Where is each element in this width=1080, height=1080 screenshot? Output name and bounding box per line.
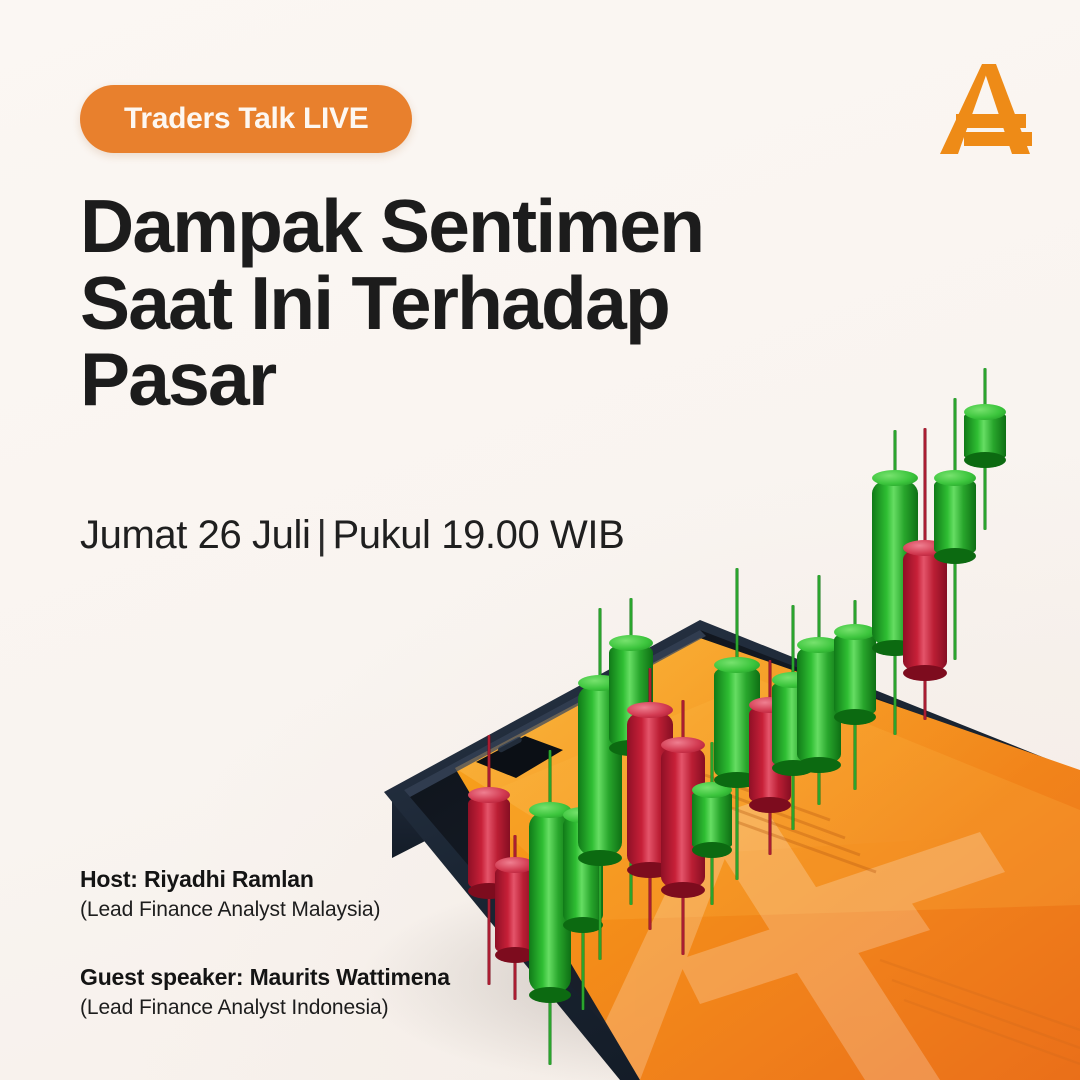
candle-9-bullish — [692, 790, 732, 850]
candle-top-cap — [468, 787, 510, 803]
host-name: Host: Riyadhi Ramlan — [80, 866, 450, 893]
candle-bottom-cap — [661, 882, 705, 898]
candle-bottom-cap — [563, 917, 603, 933]
candle-bottom-cap — [749, 797, 791, 813]
candle-top-cap — [609, 635, 653, 651]
candle-top-cap — [714, 657, 760, 673]
guest-name: Guest speaker: Maurits Wattimena — [80, 964, 450, 991]
candle-body — [834, 632, 876, 717]
candle-top-cap — [661, 737, 705, 753]
candle-bottom-cap — [529, 987, 571, 1003]
candle-14-bullish — [834, 632, 876, 717]
candle-top-cap — [627, 702, 673, 718]
candle-bottom-cap — [797, 757, 841, 773]
candle-bottom-cap — [834, 709, 876, 725]
candle-body — [692, 790, 732, 850]
candle-bottom-cap — [578, 850, 622, 866]
candle-top-cap — [872, 470, 918, 486]
candle-body — [934, 478, 976, 556]
candle-top-cap — [834, 624, 876, 640]
candle-top-cap — [934, 470, 976, 486]
candle-16-bearish — [903, 548, 947, 673]
candle-body — [903, 548, 947, 673]
candle-17-bullish — [934, 478, 976, 556]
credits-block: Host: Riyadhi Ramlan (Lead Finance Analy… — [80, 866, 450, 1020]
candle-bottom-cap — [692, 842, 732, 858]
credits-spacer — [80, 922, 450, 964]
candle-18-bullish — [964, 412, 1006, 460]
candle-bottom-cap — [903, 665, 947, 681]
host-role: (Lead Finance Analyst Malaysia) — [80, 898, 450, 922]
candle-top-cap — [964, 404, 1006, 420]
poster-canvas: Traders Talk LIVE Dampak Sentimen Saat I… — [0, 0, 1080, 1080]
candle-bottom-cap — [964, 452, 1006, 468]
candle-bottom-cap — [934, 548, 976, 564]
guest-role: (Lead Finance Analyst Indonesia) — [80, 996, 450, 1020]
